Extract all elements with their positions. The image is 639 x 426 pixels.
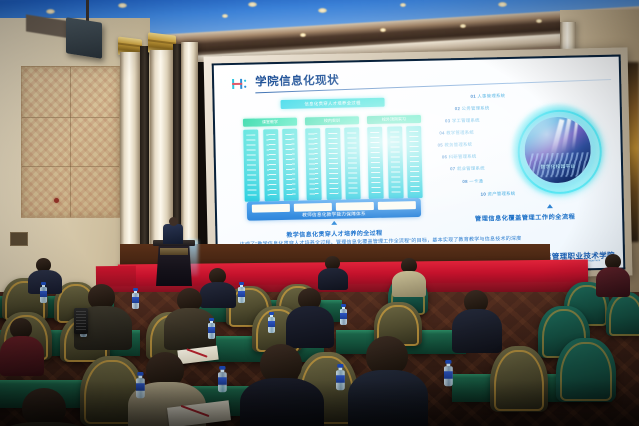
list-item-label: 科研管理系统 bbox=[449, 154, 477, 160]
list-item-number: 03 bbox=[445, 118, 450, 123]
foundation-box bbox=[294, 202, 332, 211]
audience-member bbox=[596, 254, 630, 294]
list-item-label: 就业管理系统 bbox=[457, 166, 485, 172]
ceiling-downlight bbox=[498, 2, 507, 7]
diagram-group: 校外顶岗实习 bbox=[367, 115, 423, 199]
chair bbox=[490, 346, 548, 412]
audience-member bbox=[240, 344, 324, 426]
person-body bbox=[240, 378, 324, 426]
slide-title: 学院信息化现状 bbox=[255, 72, 339, 90]
diagram-columns bbox=[305, 127, 361, 200]
lectern-plate bbox=[160, 248, 188, 255]
diagram-columns bbox=[367, 125, 423, 198]
diagram-group: 校内实训 bbox=[305, 116, 361, 200]
foundation-box bbox=[378, 201, 416, 210]
person-body bbox=[452, 309, 502, 353]
list-item-number: 05 bbox=[437, 142, 442, 147]
left-diagram-header: 信息化贯穿人才培养全过程 bbox=[281, 98, 385, 109]
foundation-bar: 教师信息化教学能力保障体系 bbox=[247, 198, 421, 221]
person-body bbox=[348, 370, 428, 426]
valance-light bbox=[380, 28, 386, 32]
ceiling-downlight bbox=[318, 8, 327, 13]
list-item-label: 公务管理系统 bbox=[462, 105, 490, 111]
list-item: 02公务管理系统 bbox=[455, 105, 490, 112]
list-item-label: 一卡通 bbox=[469, 179, 483, 184]
av-equipment-box bbox=[74, 308, 88, 334]
list-item: 04教学管理系统 bbox=[439, 130, 474, 137]
list-item-label: 教务管理系统 bbox=[444, 142, 472, 148]
speaker-mount-rod bbox=[86, 0, 89, 22]
diagram-group-label: 校内实训 bbox=[305, 116, 359, 125]
person-body bbox=[318, 268, 348, 290]
foundation-box bbox=[336, 201, 374, 210]
panel-divider bbox=[70, 67, 71, 217]
list-item: 10资产管理系统 bbox=[481, 191, 516, 198]
list-item: 07就业管理系统 bbox=[450, 166, 485, 173]
foundation-box bbox=[252, 203, 290, 212]
left-diagram-header-label: 信息化贯穿人才培养全过程 bbox=[281, 98, 385, 109]
list-item-number: 08 bbox=[462, 179, 467, 184]
wall-sensor-icon bbox=[54, 198, 59, 203]
valance-light bbox=[536, 19, 542, 23]
audience-member bbox=[452, 290, 502, 348]
diagram-column bbox=[387, 126, 404, 198]
person-body bbox=[0, 422, 90, 426]
audience-member bbox=[392, 258, 426, 294]
list-item-number: 06 bbox=[442, 154, 447, 159]
wall-vent-icon bbox=[10, 232, 28, 246]
person-body bbox=[286, 306, 334, 348]
diagram-column bbox=[344, 127, 361, 199]
audience-member bbox=[0, 388, 90, 426]
list-item-number: 04 bbox=[439, 130, 444, 135]
audience-member bbox=[0, 318, 44, 372]
audience-member bbox=[318, 256, 348, 288]
valance-light bbox=[460, 24, 466, 28]
diagram-group: 课堂教学 bbox=[243, 118, 299, 202]
presenter-body bbox=[163, 224, 183, 244]
chair bbox=[606, 292, 639, 336]
audience-member bbox=[348, 336, 428, 426]
list-item: 03学工管理系统 bbox=[445, 118, 480, 125]
diagram-column bbox=[282, 128, 299, 200]
list-item: 05教务管理系统 bbox=[437, 142, 472, 149]
list-item: 01人事管理系统 bbox=[470, 93, 505, 100]
list-item-number: 02 bbox=[455, 106, 460, 111]
ceiling-downlight bbox=[118, 3, 127, 8]
right-diagram-caption: 管理信息化覆盖管理工作的全流程 bbox=[435, 211, 615, 224]
up-arrow-icon bbox=[547, 204, 553, 208]
list-item-label: 教学管理系统 bbox=[446, 130, 474, 136]
slide-logo-icon bbox=[230, 77, 248, 91]
list-item-number: 01 bbox=[470, 94, 475, 99]
up-arrow-icon bbox=[331, 221, 337, 225]
person-body bbox=[0, 336, 44, 376]
ceiling-downlight bbox=[400, 3, 406, 7]
diagram-column bbox=[305, 128, 322, 200]
list-item-number: 07 bbox=[450, 166, 455, 171]
diagram-group-label: 课堂教学 bbox=[243, 118, 297, 127]
list-item-label: 学工管理系统 bbox=[452, 118, 480, 124]
diagram-column bbox=[406, 125, 423, 197]
wall-pattern-panel bbox=[21, 66, 120, 218]
left-diagram: 信息化贯穿人才培养全过程 课堂教学 校内实训 bbox=[241, 97, 426, 231]
audience-member bbox=[286, 288, 334, 344]
ceiling-downlight bbox=[46, 9, 55, 14]
person-head bbox=[22, 388, 66, 426]
list-item: 06科研管理系统 bbox=[442, 154, 477, 161]
globe-image: 数字化校园平台 bbox=[524, 116, 591, 183]
list-item: 08一卡通 bbox=[462, 179, 483, 185]
diagram-column bbox=[325, 127, 342, 199]
diagram-column bbox=[263, 129, 280, 201]
conference-photo-scene: 学院信息化现状 信息化贯穿人才培养全过程 课堂教学 bbox=[0, 0, 639, 426]
list-item-label: 资产管理系统 bbox=[487, 191, 515, 197]
person-body bbox=[392, 271, 426, 297]
list-item-number: 10 bbox=[481, 192, 486, 197]
ceiling-speaker-icon bbox=[66, 17, 102, 59]
diagram-column bbox=[243, 129, 260, 201]
diagram-columns bbox=[243, 128, 299, 201]
diagram-column bbox=[367, 126, 384, 198]
chair bbox=[556, 338, 616, 402]
ceiling-downlight bbox=[222, 14, 228, 18]
presenter-head bbox=[169, 217, 178, 226]
ceiling-downlight bbox=[248, 2, 257, 7]
right-diagram: 数字化校园平台 01人事管理系统 02公务管理系统 03学工管理系统 04教学管… bbox=[432, 89, 615, 233]
valance-light bbox=[300, 33, 306, 37]
person-body bbox=[596, 267, 630, 297]
globe-streak bbox=[571, 121, 578, 151]
list-item-label: 人事管理系统 bbox=[477, 93, 505, 99]
diagram-group-label: 校外顶岗实习 bbox=[367, 115, 421, 124]
